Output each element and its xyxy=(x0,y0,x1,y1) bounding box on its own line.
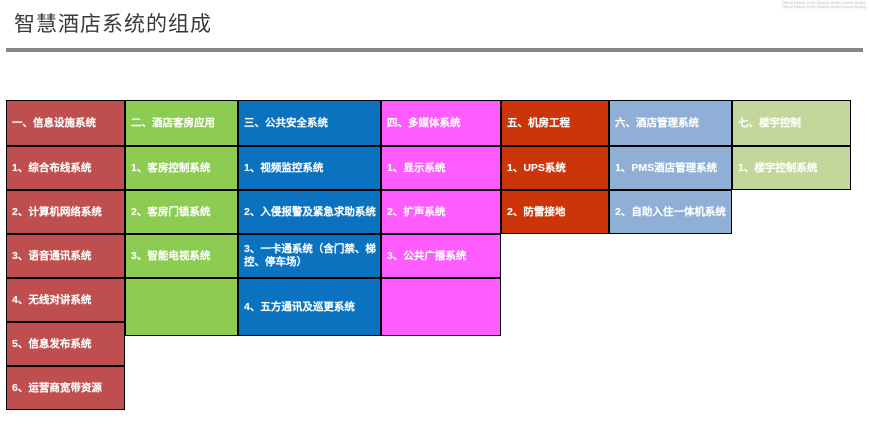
table-cell[interactable]: 2、防雷接地 xyxy=(501,190,609,234)
watermark-line-2: Offical Partner of the Olympic Winter Ga… xyxy=(781,5,867,9)
table-cell[interactable]: 1、显示系统 xyxy=(381,146,501,190)
column-header-6: 六、酒店管理系统 xyxy=(609,100,732,146)
table-column-hotel-management: 六、酒店管理系统 1、PMS酒店管理系统 2、自助入住一体机系统 xyxy=(609,100,732,234)
table-column-public-security: 三、公共安全系统 1、视频监控系统 2、入侵报警及紧急求助系统 3、一卡通系统（… xyxy=(238,100,381,336)
column-header-7: 七、楼宇控制 xyxy=(732,100,851,146)
table-cell[interactable]: 1、客房控制系统 xyxy=(125,146,238,190)
table-column-multimedia: 四、多媒体系统 1、显示系统 2、扩声系统 3、公共广播系统 xyxy=(381,100,501,336)
table-cell[interactable]: 3、一卡通系统（含门禁、梯控、停车场） xyxy=(238,234,381,278)
table-cell-empty xyxy=(125,278,238,336)
column-header-4: 四、多媒体系统 xyxy=(381,100,501,146)
table-cell[interactable]: 5、信息发布系统 xyxy=(6,322,125,366)
table-cell[interactable]: 3、公共广播系统 xyxy=(381,234,501,278)
column-header-3: 三、公共安全系统 xyxy=(238,100,381,146)
table-column-machine-room: 五、机房工程 1、UPS系统 2、防雷接地 xyxy=(501,100,609,234)
table-cell[interactable]: 3、智能电视系统 xyxy=(125,234,238,278)
table-cell[interactable]: 4、五方通讯及巡更系统 xyxy=(238,278,381,336)
table-cell[interactable]: 1、UPS系统 xyxy=(501,146,609,190)
column-header-2: 二、酒店客房应用 xyxy=(125,100,238,146)
table-cell[interactable]: 1、综合布线系统 xyxy=(6,146,125,190)
table-cell[interactable]: 1、PMS酒店管理系统 xyxy=(609,146,732,190)
slide-canvas: Offical Partner of the Olympic Winter Ga… xyxy=(0,0,869,437)
table-cell-empty xyxy=(381,278,501,336)
title-divider xyxy=(6,48,863,52)
olympic-partner-watermark: Offical Partner of the Olympic Winter Ga… xyxy=(781,0,867,11)
table-cell[interactable]: 2、自助入住一体机系统 xyxy=(609,190,732,234)
table-cell[interactable]: 2、扩声系统 xyxy=(381,190,501,234)
table-cell[interactable]: 3、语音通讯系统 xyxy=(6,234,125,278)
table-column-building-control: 七、楼宇控制 1、楼宇控制系统 xyxy=(732,100,851,190)
table-cell[interactable]: 2、客房门锁系统 xyxy=(125,190,238,234)
table-cell[interactable]: 1、楼宇控制系统 xyxy=(732,146,851,190)
table-cell[interactable]: 4、无线对讲系统 xyxy=(6,278,125,322)
table-cell[interactable]: 6、运营商宽带资源 xyxy=(6,366,125,410)
column-header-5: 五、机房工程 xyxy=(501,100,609,146)
table-cell[interactable]: 2、计算机网络系统 xyxy=(6,190,125,234)
table-column-guestroom-application: 二、酒店客房应用 1、客房控制系统 2、客房门锁系统 3、智能电视系统 xyxy=(125,100,238,336)
system-composition-table: 一、信息设施系统 1、综合布线系统 2、计算机网络系统 3、语音通讯系统 4、无… xyxy=(6,100,851,410)
page-title: 智慧酒店系统的组成 xyxy=(14,8,212,38)
table-column-information-facility: 一、信息设施系统 1、综合布线系统 2、计算机网络系统 3、语音通讯系统 4、无… xyxy=(6,100,125,410)
table-cell[interactable]: 1、视频监控系统 xyxy=(238,146,381,190)
table-cell[interactable]: 2、入侵报警及紧急求助系统 xyxy=(238,190,381,234)
column-header-1: 一、信息设施系统 xyxy=(6,100,125,146)
